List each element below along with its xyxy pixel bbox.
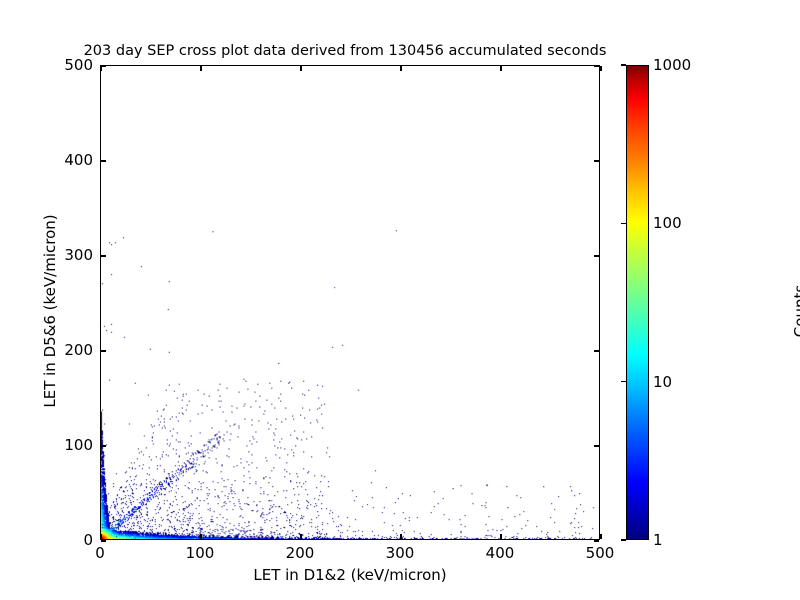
x-tick-label-300: 300 (386, 544, 415, 562)
colorbar: 1101001000 (626, 65, 649, 540)
x-tick-500 (600, 66, 601, 71)
y-tick-200 (101, 350, 106, 351)
y-tick-label-0: 0 (83, 531, 93, 549)
y-tick-label-300: 300 (64, 246, 93, 264)
colorbar-gradient (626, 65, 649, 540)
y-tick-400 (101, 160, 106, 161)
colorbar-tick-label-10: 10 (653, 373, 672, 391)
y-tick-label-100: 100 (64, 436, 93, 454)
x-tick-0 (100, 534, 101, 539)
chart-title-line-1: 203 day SEP cross plot data derived from… (0, 42, 690, 60)
x-tick-100 (200, 534, 201, 539)
colorbar-tick-1 (621, 539, 626, 540)
y-tick-0 (101, 540, 106, 541)
y-tick-200 (594, 350, 599, 351)
x-tick-400 (500, 534, 501, 539)
y-tick-500 (594, 65, 599, 66)
x-tick-label-200: 200 (286, 544, 315, 562)
x-tick-500 (600, 534, 601, 539)
x-tick-label-0: 0 (95, 544, 105, 562)
x-tick-300 (400, 66, 401, 71)
y-axis-label: LET in D5&6 (keV/micron) (41, 111, 59, 511)
x-tick-200 (300, 534, 301, 539)
colorbar-tick-1000 (621, 64, 626, 65)
x-tick-label-400: 400 (486, 544, 515, 562)
y-tick-300 (594, 255, 599, 256)
colorbar-tick-label-1000: 1000 (653, 56, 691, 74)
scatter-plot-area (101, 66, 599, 539)
colorbar-tick-label-100: 100 (653, 214, 682, 232)
y-tick-label-500: 500 (64, 56, 93, 74)
figure-canvas: 203 day SEP cross plot data derived from… (0, 0, 800, 600)
plot-axes (100, 65, 600, 540)
x-tick-label-500: 500 (586, 544, 615, 562)
x-tick-100 (200, 66, 201, 71)
y-tick-0 (594, 540, 599, 541)
colorbar-tick-label-1: 1 (653, 531, 663, 549)
y-tick-label-200: 200 (64, 341, 93, 359)
colorbar-tick-10 (621, 381, 626, 382)
x-tick-label-100: 100 (186, 544, 215, 562)
y-tick-100 (594, 445, 599, 446)
y-tick-500 (101, 65, 106, 66)
colorbar-label: Counts (791, 111, 800, 511)
colorbar-tick-100 (621, 223, 626, 224)
y-tick-label-400: 400 (64, 151, 93, 169)
x-tick-300 (400, 534, 401, 539)
x-tick-400 (500, 66, 501, 71)
x-tick-0 (100, 66, 101, 71)
y-tick-400 (594, 160, 599, 161)
x-axis-label: LET in D1&2 (keV/micron) (100, 566, 600, 584)
x-tick-200 (300, 66, 301, 71)
y-tick-300 (101, 255, 106, 256)
y-tick-100 (101, 445, 106, 446)
